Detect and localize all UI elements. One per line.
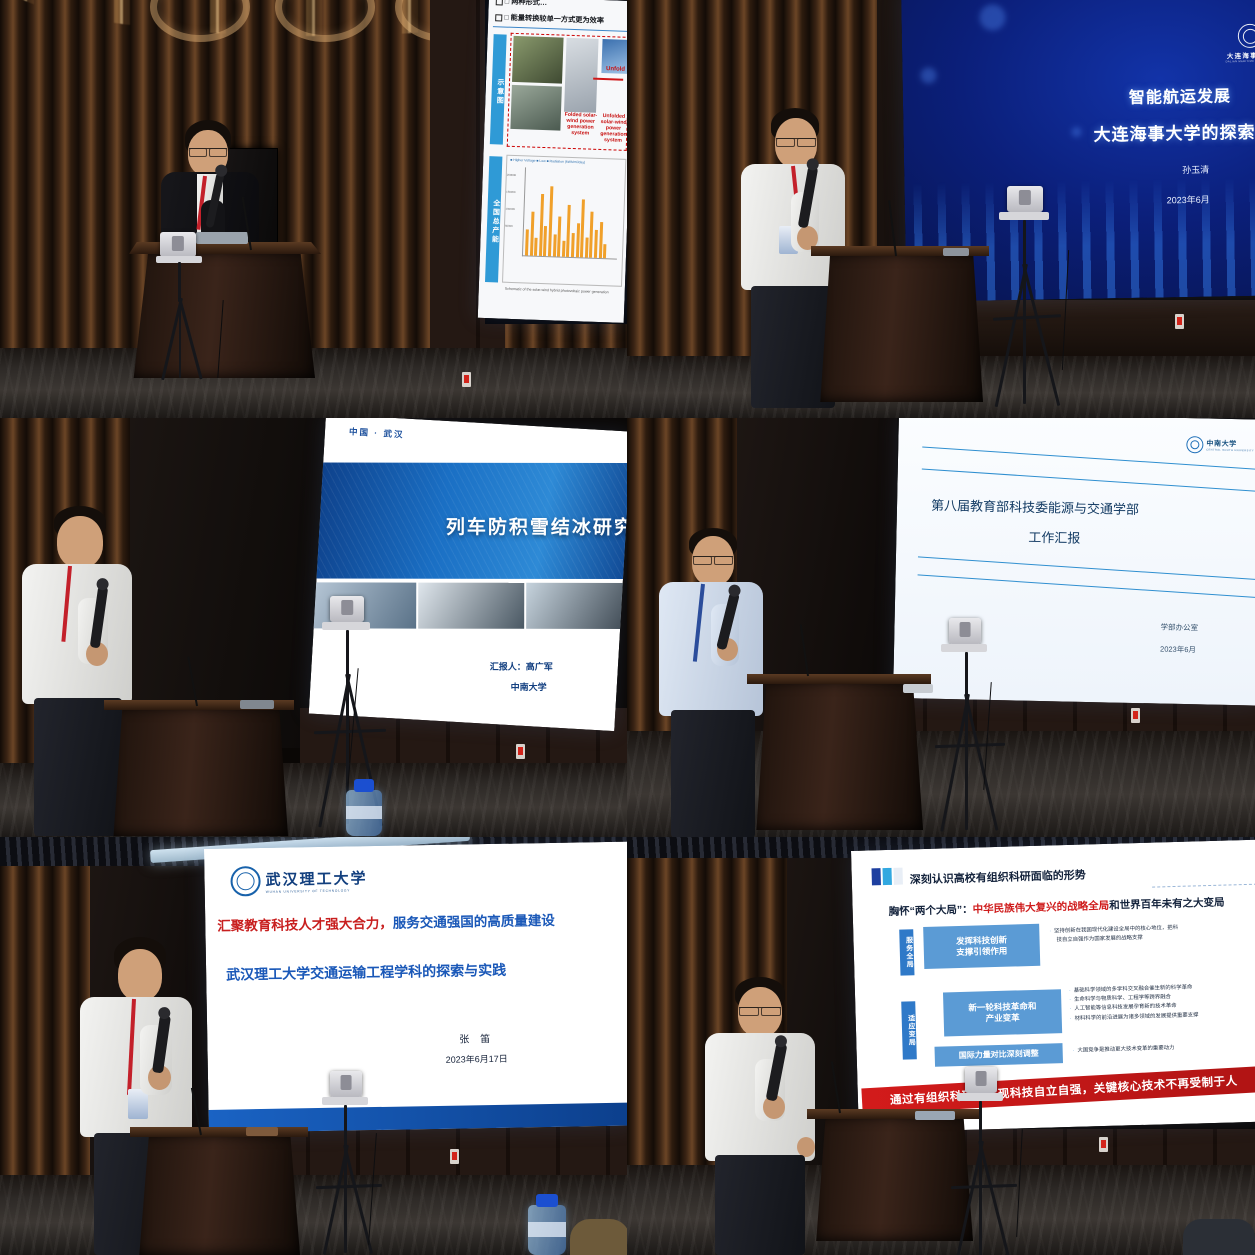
slide6-side-label-0: 服务全局 <box>899 929 914 975</box>
conference-camera <box>965 1067 997 1093</box>
podium <box>136 1133 300 1255</box>
projection-screen-1: □ 两种形式… □ 能量转换较单一方式更为效率 示意图 全国总产能 Folded… <box>478 0 627 323</box>
glasses-icon <box>693 556 733 557</box>
slide3-title: 列车防积雪结冰研究 <box>446 512 627 539</box>
podium-top <box>747 674 931 684</box>
slide6-color-tag <box>871 868 902 886</box>
slide6-block-0: 发挥科技创新支撑引领作用 <box>923 924 1040 969</box>
laptop <box>196 232 248 244</box>
tripod <box>977 220 1077 406</box>
slide5-title-blue: 服务交通强国的高质量建设 <box>393 913 555 931</box>
conference-camera <box>160 232 196 257</box>
tripod <box>300 1105 400 1255</box>
slide1-caption-0: Folded solar-wind power generation syste… <box>563 113 598 138</box>
head <box>118 949 162 1001</box>
slide6-banner: 通过有组织科研：实现科技自立自强，关键核心技术不再受制于人 <box>861 1066 1255 1115</box>
slide5-presenter: 张 笛 <box>459 1030 494 1046</box>
laptop <box>943 248 969 256</box>
podium <box>110 706 288 836</box>
tripod <box>140 262 220 382</box>
camera-base <box>322 1097 368 1105</box>
slide4-title-1: 第八届教育部科技委能源与交通学部 <box>931 495 1139 518</box>
slide4-date: 2023年6月 <box>1160 644 1196 656</box>
podium <box>817 252 983 402</box>
conference-camera <box>330 596 364 622</box>
slide5-date: 2023年6月17日 <box>446 1052 508 1066</box>
wut-logo: 武汉理工大学 WUHAN UNIVERSITY OF TECHNOLOGY <box>230 864 368 896</box>
university-seal-icon <box>230 866 261 897</box>
slide2-date: 2023年6月 <box>1167 193 1210 207</box>
projection-screen-5: 武汉理工大学 WUHAN UNIVERSITY OF TECHNOLOGY 汇聚… <box>204 842 627 1133</box>
slide5-title-red: 汇聚教育科技人才强大合力， <box>217 916 393 934</box>
slide1-bullet-1: □ 能量转换较单一方式更为效率 <box>504 13 604 26</box>
slide3-presenter: 汇报人：高广军 <box>490 660 553 673</box>
legs <box>34 698 122 836</box>
legs <box>671 710 755 837</box>
university-seal-icon <box>1186 436 1203 453</box>
panel-top-right: 大连海事大学 DALIAN MARITIME UNIVERSITY 智能航运发展… <box>627 0 1255 418</box>
slide6-sub-tail: 和世界百年未有之大变局 <box>1109 897 1225 912</box>
slide6-sub-plain: 胸怀“两个大局”： <box>889 904 973 918</box>
hand-with-clicker <box>797 1137 815 1157</box>
panel-middle-right: 中南大学 CENTRAL SOUTH UNIVERSITY 第八届教育部科技委能… <box>627 418 1255 837</box>
glasses-icon <box>189 148 227 149</box>
slide1-side-label-0: 示意图 <box>490 34 507 144</box>
slide4-title-2: 工作汇报 <box>1028 527 1080 547</box>
slide1-bullet-0: □ 两种形式… <box>505 0 548 8</box>
wall-outlet <box>1131 708 1140 723</box>
conference-camera <box>949 618 981 644</box>
university-seal-icon <box>1238 24 1255 48</box>
dmu-logo-en: DALIAN MARITIME UNIVERSITY <box>1218 59 1255 63</box>
wut-logo-name: 武汉理工大学 <box>265 867 367 890</box>
slide1-footer-caption: Schematic of the solar-wind hybrid photo… <box>505 287 609 295</box>
wall-outlet <box>1099 1137 1108 1152</box>
wall-outlet <box>450 1149 459 1164</box>
legs <box>715 1155 805 1255</box>
slide5-title-2: 武汉理工大学交通运输工程学科的探索与实践 <box>226 960 506 985</box>
laptop <box>240 700 274 709</box>
camera-base <box>941 644 987 652</box>
csu-logo: 中南大学 CENTRAL SOUTH UNIVERSITY <box>1186 436 1254 454</box>
slide2-presenter: 孙玉清 <box>1182 163 1209 176</box>
projection-screen-6: 深刻认识高校有组织科研面临的形势 胸怀“两个大局”：中华民族伟大复兴的战略全局和… <box>851 840 1255 1133</box>
podium-top <box>130 1127 308 1137</box>
glasses-icon <box>739 1007 781 1008</box>
slide3-affiliation: 中南大学 <box>511 680 547 693</box>
photo-collage: □ 两种形式… □ 能量转换较单一方式更为效率 示意图 全国总产能 Folded… <box>0 0 1255 1255</box>
slide6-sub-red: 中华民族伟大复兴的战略全局 <box>973 900 1110 916</box>
panel-bottom-left: 武汉理工大学 WUHAN UNIVERSITY OF TECHNOLOGY 汇聚… <box>0 837 627 1255</box>
slide6-side-label-1: 适应变局 <box>901 1001 917 1059</box>
slide6-bullet-3-0: 大国竞争是推动更大技术变革的重要动力 <box>1077 1045 1174 1054</box>
slide3-header: 中国 · 武汉 <box>349 425 405 440</box>
slide6-block-2: 国际力量对比深刻调整 <box>934 1043 1063 1067</box>
panel-bottom-right: 深刻认识高校有组织科研面临的形势 胸怀“两个大局”：中华民族伟大复兴的战略全局和… <box>627 837 1255 1255</box>
panel-middle-left: 中国 · 武汉 列车防积雪结冰研究 汇报人：高广军 中南大学 <box>0 418 627 837</box>
wall-outlet <box>516 744 525 759</box>
conference-camera <box>330 1071 362 1097</box>
csu-logo-en: CENTRAL SOUTH UNIVERSITY <box>1206 448 1254 452</box>
podium <box>753 680 923 830</box>
audience-chair <box>570 1219 627 1255</box>
tripod <box>921 652 1021 832</box>
slide6-heading: 深刻认识高校有组织科研面临的形势 <box>910 866 1086 887</box>
camera-base <box>957 1093 1003 1101</box>
slide6-bullets-group-1: ·坚持创新在我国现代化建设全局中的核心地位，把科 技自立自强作为国家发展的战略支… <box>1049 924 1178 946</box>
head <box>57 516 103 568</box>
slide1-side-label-1: 全国总产能 <box>485 156 502 282</box>
conference-camera <box>1007 186 1043 212</box>
glasses-icon <box>776 138 816 139</box>
floor <box>0 348 627 418</box>
camera-base <box>322 622 370 630</box>
panel-top-left: □ 两种形式… □ 能量转换较单一方式更为效率 示意图 全国总产能 Folded… <box>0 0 627 418</box>
laptop <box>246 1127 278 1136</box>
slide1-caption-1: Unfold <box>602 66 627 74</box>
slide4-presenter: 学部办公室 <box>1160 622 1198 634</box>
camera-base <box>999 212 1049 220</box>
audience-head <box>1183 1219 1255 1255</box>
water-bottle <box>528 1205 566 1255</box>
torso <box>22 564 132 704</box>
slide6-bullets-group-3: ·大国竞争是推动更大技术变革的重要动力 <box>1073 1044 1175 1056</box>
slide6-block-1: 新一轮科技革命和产业变革 <box>943 989 1062 1036</box>
wall-outlet <box>462 372 471 387</box>
water-bottle <box>346 790 382 836</box>
dmu-logo-name: 大连海事大学 <box>1218 49 1255 60</box>
slide2-title-2: 大连海事大学的探索与实践 <box>1093 117 1255 146</box>
wall-outlet <box>1175 314 1184 329</box>
slide1-caption-2: Unfolded solar-wind power generation sys… <box>600 114 627 145</box>
dmu-logo: 大连海事大学 DALIAN MARITIME UNIVERSITY <box>1218 23 1255 63</box>
slide2-title-1: 智能航运发展 <box>1129 82 1231 108</box>
slide6-bullets-group-2: ·基础科学领域的多学科交叉融合催生新的科学革命 ·生命科学与物质科学、工程学等跨… <box>1069 983 1199 1023</box>
